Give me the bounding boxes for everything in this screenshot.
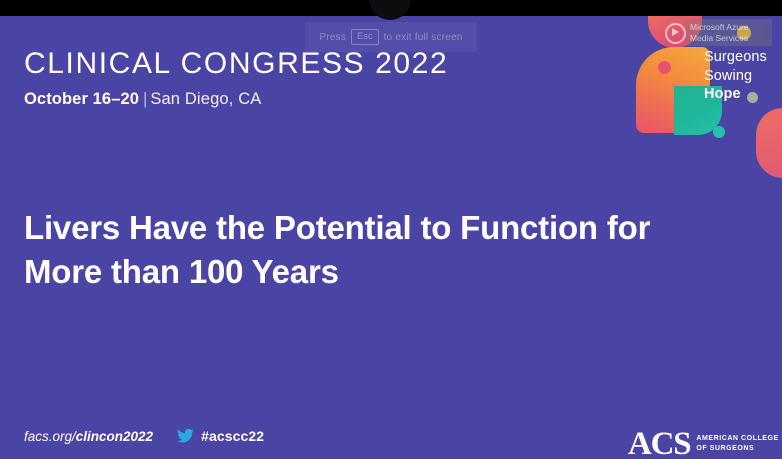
logo-word-line-2: Sowing xyxy=(704,67,767,86)
hashtag-text: #acscc22 xyxy=(201,428,264,444)
azure-media-services-icon xyxy=(665,23,686,44)
event-dates: October 16–20 xyxy=(24,90,139,108)
slide-header: CLINICAL CONGRESS 2022 October 16–20|San… xyxy=(24,49,448,108)
slide-footer: facs.org/clincon2022 #acscc22 xyxy=(24,428,264,444)
video-player[interactable]: CLINICAL CONGRESS 2022 October 16–20|San… xyxy=(0,0,782,459)
event-title: CLINICAL CONGRESS 2022 xyxy=(24,49,448,79)
esc-key-badge: Esc xyxy=(351,29,379,45)
event-location: San Diego, CA xyxy=(150,90,261,108)
logo-word-line-1: Surgeons xyxy=(704,48,767,67)
acs-logo-subtitle: AMERICAN COLLEGE OF SURGEONS xyxy=(696,434,778,454)
watermark-line-1: Microsoft Azure xyxy=(690,22,749,32)
logo-word-line-3: Hope xyxy=(704,85,767,104)
logo-wordmark: Surgeons Sowing Hope xyxy=(704,48,767,104)
acs-logo-mark: ACS xyxy=(628,428,690,459)
website-url-domain: facs.org/ xyxy=(24,429,76,444)
exit-fullscreen-hint: Press Esc to exit full screen xyxy=(305,22,477,52)
header-separator: | xyxy=(143,90,147,108)
logo-dot-red-icon xyxy=(658,61,671,74)
exit-fullscreen-hint-prefix: Press xyxy=(319,32,346,43)
acs-logo-subtitle-line-1: AMERICAN COLLEGE xyxy=(696,435,778,442)
website-url-path: clincon2022 xyxy=(76,429,153,444)
slide-headline: Livers Have the Potential to Function fo… xyxy=(24,206,714,293)
exit-fullscreen-hint-suffix: to exit full screen xyxy=(384,32,463,43)
event-dates-location: October 16–20|San Diego, CA xyxy=(24,91,448,108)
watermark-line-2: Media Services xyxy=(690,33,748,43)
website-url: facs.org/clincon2022 xyxy=(24,429,153,444)
watermark-text: Microsoft Azure Media Services xyxy=(690,22,749,43)
logo-shape-right-blob xyxy=(756,108,782,178)
social-handle: #acscc22 xyxy=(177,428,264,444)
twitter-bird-icon xyxy=(177,429,194,443)
acs-logo-subtitle-line-2: OF SURGEONS xyxy=(696,445,754,452)
logo-dot-teal-icon xyxy=(713,126,725,138)
acs-logo: ACS AMERICAN COLLEGE OF SURGEONS xyxy=(628,424,764,459)
presentation-slide: CLINICAL CONGRESS 2022 October 16–20|San… xyxy=(0,16,782,459)
azure-media-services-watermark: Microsoft Azure Media Services xyxy=(665,18,777,48)
